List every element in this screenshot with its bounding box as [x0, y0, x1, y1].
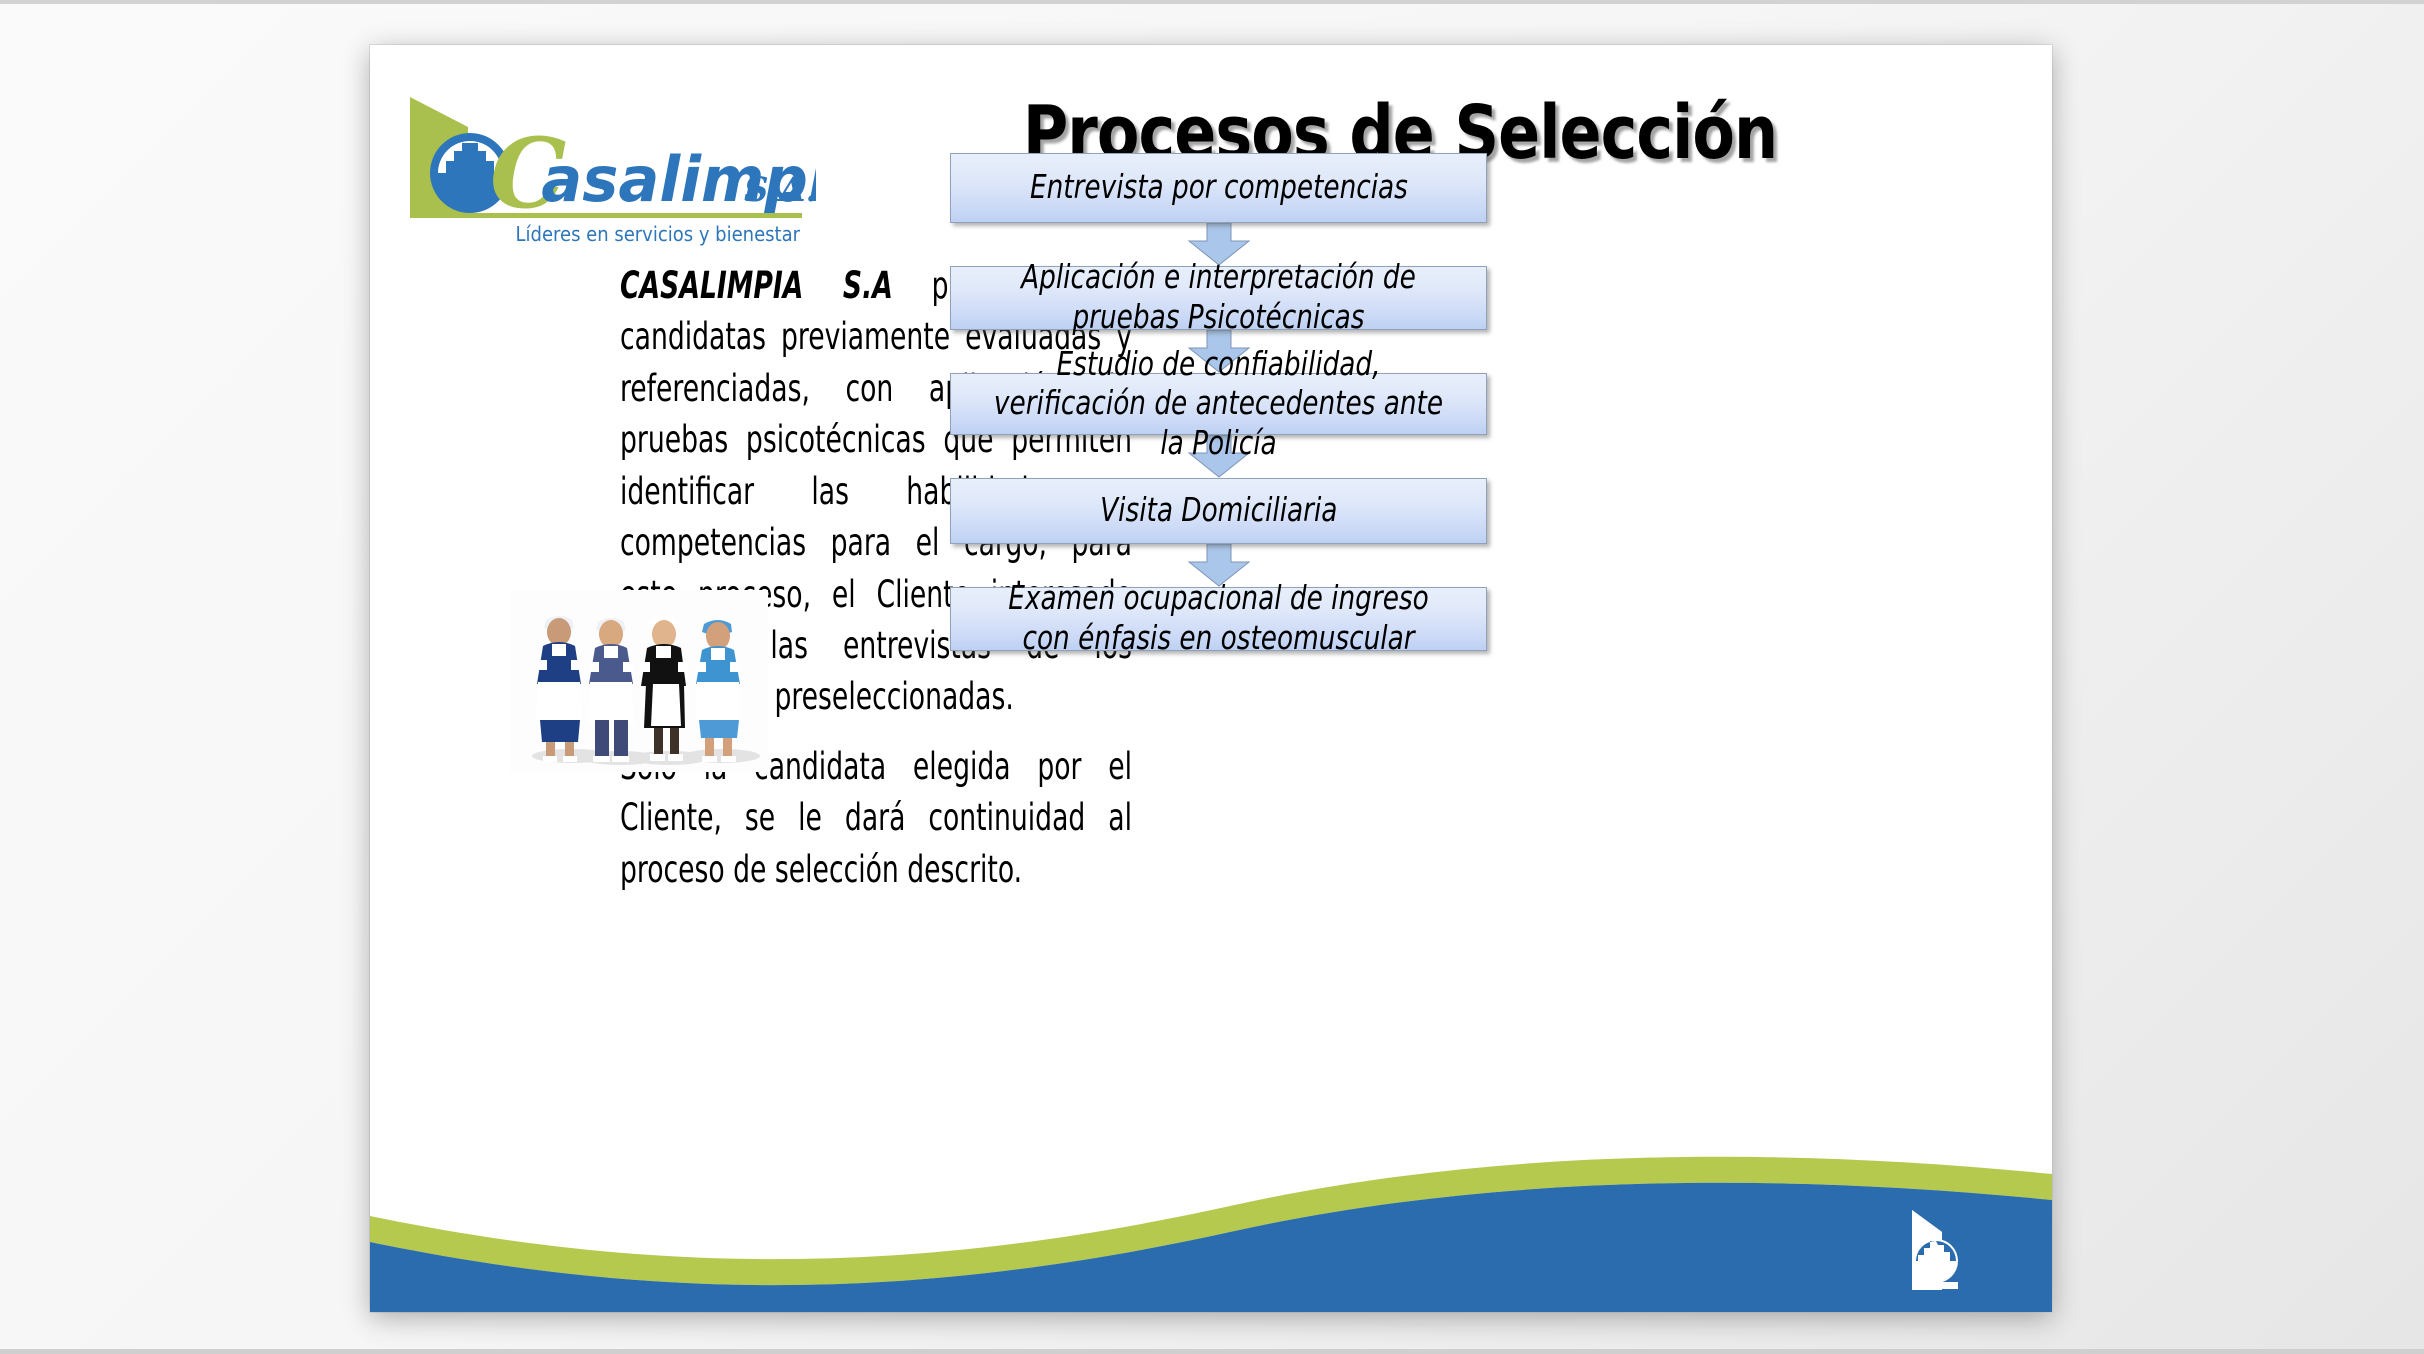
- flow-step-2[interactable]: Aplicación e interpretación de pruebas P…: [950, 266, 1487, 330]
- page-top-rule: [0, 0, 2424, 4]
- flow-step-5[interactable]: Examen ocupacional de ingreso con énfasi…: [950, 587, 1487, 651]
- casalimpia-logo: C asalimpia S.A. Líderes en servicios y …: [406, 89, 816, 254]
- footer-wave: [370, 1152, 2052, 1312]
- page-bottom-rule: [0, 1349, 2424, 1354]
- logo-tagline: Líderes en servicios y bienestar: [516, 222, 801, 246]
- flow-step-3-label: Estudio de confiabilidad, verificación d…: [978, 345, 1460, 464]
- flow-step-1-label: Entrevista por competencias: [1017, 168, 1420, 208]
- uniformed-staff-photo: [510, 590, 768, 772]
- flow-step-5-label: Examen ocupacional de ingreso con énfasi…: [978, 579, 1460, 658]
- footer-watermark-logo-icon: [1898, 1206, 1966, 1298]
- flow-step-4[interactable]: Visita Domiciliaria: [950, 478, 1487, 544]
- flow-step-2-label: Aplicación e interpretación de pruebas P…: [978, 258, 1460, 337]
- flow-step-3[interactable]: Estudio de confiabilidad, verificación d…: [950, 373, 1487, 435]
- company-name-emphasis: CASALIMPIA S.A: [620, 264, 893, 307]
- slide-canvas: C asalimpia S.A. Líderes en servicios y …: [370, 45, 2052, 1312]
- selection-process-flowchart: Entrevista por competencias Aplicación e…: [950, 153, 1487, 651]
- flow-step-4-label: Visita Domiciliaria: [1087, 491, 1349, 531]
- logo-suffix: S.A.: [744, 170, 816, 210]
- flow-step-1[interactable]: Entrevista por competencias: [950, 153, 1487, 223]
